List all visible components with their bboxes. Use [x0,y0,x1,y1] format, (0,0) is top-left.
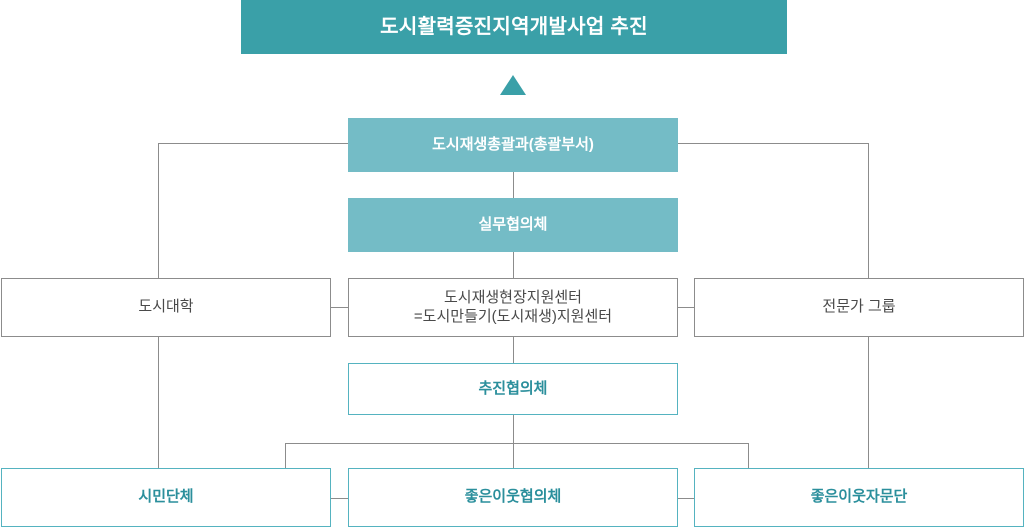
node-promotion-council-label: 추진협의체 [478,380,547,399]
connector-university-to-civic-group [158,337,159,468]
connector-expert-group-to-advisory [868,337,869,468]
connector-department-to-working-council [513,172,514,198]
connector-bottom-left-drop [285,443,286,468]
node-civic-group-label: 시민단체 [138,488,193,507]
up-arrow-icon [500,75,526,95]
node-good-neighbor-advisory: 좋은이웃자문단 [694,468,1024,527]
node-title-project-label: 도시활력증진지역개발사업 추진 [380,15,648,40]
connector-left-branch-vertical [158,143,159,278]
org-chart-diagram: 도시활력증진지역개발사업 추진 도시재생총괄과(총괄부서) 실무협의체 도시대학… [0,0,1024,530]
node-civic-group: 시민단체 [1,468,331,527]
connector-right-branch-vertical [868,143,869,278]
node-working-council: 실무협의체 [348,198,678,252]
node-city-university: 도시대학 [1,278,331,337]
connector-bottom-bus-horizontal [285,443,749,444]
node-good-neighbor-council-label: 좋은이웃협의체 [465,488,562,507]
connector-civic-to-neighbor-council [331,498,349,499]
connector-bottom-right-drop [748,443,749,468]
node-promotion-council: 추진협의체 [348,363,678,415]
node-good-neighbor-council: 좋은이웃협의체 [348,468,678,527]
connector-working-council-to-center [513,252,514,278]
node-good-neighbor-advisory-label: 좋은이웃자문단 [811,488,908,507]
connector-center-to-promotion-council [513,337,514,363]
node-expert-group-label: 전문가 그룹 [822,298,895,317]
node-expert-group: 전문가 그룹 [694,278,1024,337]
connector-center-to-expert-group [677,307,695,308]
node-total-department-label: 도시재생총괄과(총괄부서) [432,136,594,155]
node-field-support-center-label: 도시재생현장지원센터 =도시만들기(도시재생)지원센터 [414,289,612,327]
connector-neighbor-council-to-advisory [677,498,695,499]
node-title-project: 도시활력증진지역개발사업 추진 [241,0,787,54]
connector-university-to-center [331,307,349,308]
node-total-department: 도시재생총괄과(총괄부서) [348,118,678,172]
connector-right-branch-horizontal [678,143,868,144]
node-working-council-label: 실무협의체 [478,216,547,235]
node-city-university-label: 도시대학 [138,298,193,317]
connector-promotion-council-stem [513,415,514,468]
connector-left-branch-horizontal [158,143,348,144]
node-field-support-center: 도시재생현장지원센터 =도시만들기(도시재생)지원센터 [348,278,678,337]
